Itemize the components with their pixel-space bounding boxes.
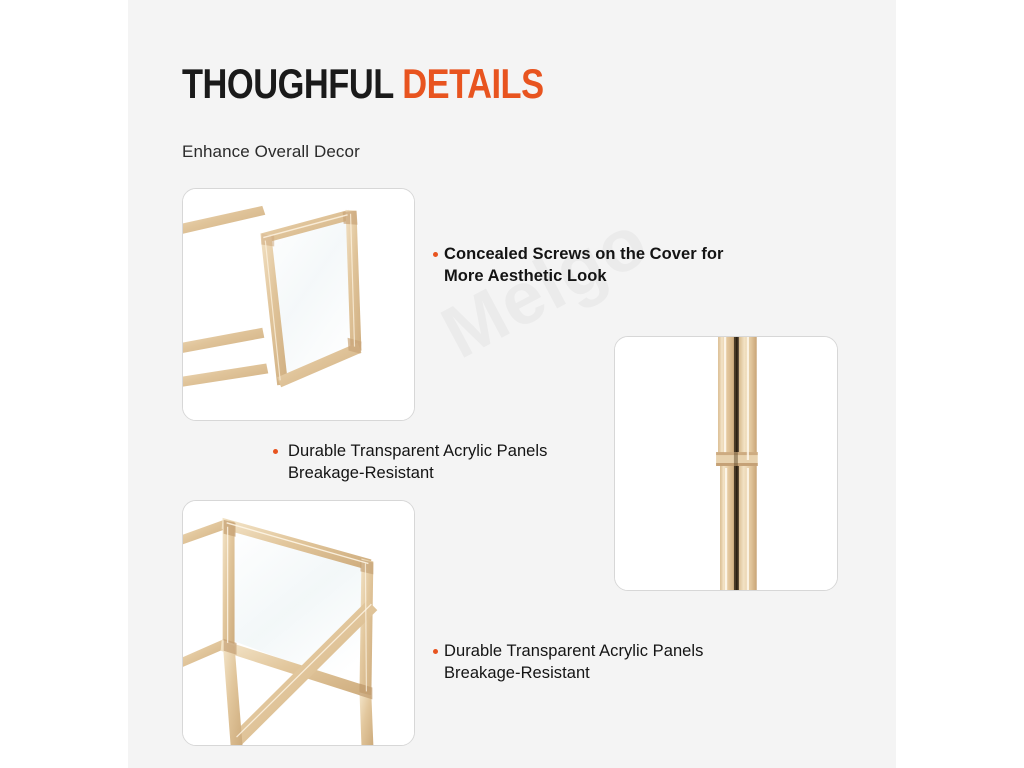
page-root: Melgo THOUGHFUL DETAILS Enhance Overall …	[0, 0, 1024, 768]
feature-line-2: Breakage-Resistant	[444, 664, 590, 682]
bullet-dot-icon	[433, 252, 438, 257]
hinge-post-detail-illustration	[615, 337, 837, 590]
bullet-dot-icon	[433, 649, 438, 654]
screw-cover-detail-illustration	[183, 189, 414, 420]
bullet-dot-icon	[273, 449, 278, 454]
feature-bullet-acrylic-panels-lower: Durable Transparent Acrylic Panels Break…	[433, 640, 703, 684]
page-subtitle: Enhance Overall Decor	[182, 142, 360, 162]
image-card-frame-brace-detail	[182, 500, 415, 746]
feature-line-2: More Aesthetic Look	[444, 267, 607, 285]
feature-bullet-text: Durable Transparent Acrylic Panels Break…	[444, 640, 703, 684]
feature-bullet-text: Durable Transparent Acrylic Panels Break…	[288, 440, 547, 484]
image-card-screw-cover-detail	[182, 188, 415, 421]
feature-line-1: Durable Transparent Acrylic Panels	[444, 642, 703, 660]
feature-line-2: Breakage-Resistant	[288, 464, 434, 482]
feature-bullet-concealed-screws: Concealed Screws on the Cover for More A…	[433, 243, 723, 287]
image-card-hinge-post-detail	[614, 336, 838, 591]
page-title: THOUGHFUL DETAILS	[182, 63, 544, 105]
feature-line-1: Durable Transparent Acrylic Panels	[288, 442, 547, 460]
feature-bullet-acrylic-panels-upper: Durable Transparent Acrylic Panels Break…	[273, 440, 547, 484]
content-panel: Melgo THOUGHFUL DETAILS Enhance Overall …	[128, 0, 896, 768]
frame-brace-detail-illustration	[183, 501, 414, 745]
page-title-accent: DETAILS	[402, 60, 543, 107]
page-title-primary: THOUGHFUL	[182, 60, 393, 107]
feature-bullet-text: Concealed Screws on the Cover for More A…	[444, 243, 723, 287]
feature-line-1: Concealed Screws on the Cover for	[444, 245, 723, 263]
